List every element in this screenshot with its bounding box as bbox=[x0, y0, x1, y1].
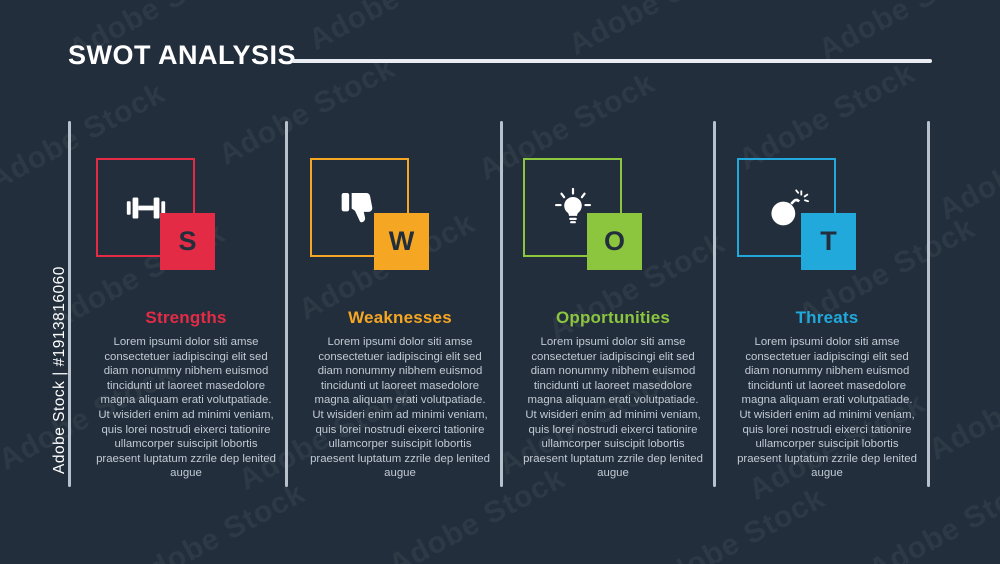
watermark-text: Adobe Stock bbox=[643, 481, 831, 564]
swot-column-strengths: S Strengths Lorem ipsumi dolor siti amse… bbox=[96, 121, 296, 281]
heading-threats: Threats bbox=[737, 308, 917, 328]
badge-strengths: S bbox=[96, 121, 296, 281]
watermark-text: Adobe Stock bbox=[923, 346, 1000, 467]
watermark-text: Adobe Stock bbox=[863, 466, 1000, 564]
swot-column-weaknesses: W Weaknesses Lorem ipsumi dolor siti ams… bbox=[310, 121, 510, 281]
letter-square-opportunities: O bbox=[587, 213, 642, 270]
infographic-canvas: Adobe StockAdobe StockAdobe StockAdobe S… bbox=[0, 0, 1000, 564]
letter-strengths: S bbox=[178, 228, 196, 255]
watermark-text: Adobe Stock bbox=[303, 0, 491, 58]
title-rule bbox=[292, 59, 932, 63]
body-opportunities: Lorem ipsumi dolor siti amse consectetue… bbox=[523, 335, 703, 481]
letter-square-weaknesses: W bbox=[374, 213, 429, 270]
stock-credit-text: Adobe Stock | #1913816060 bbox=[51, 54, 69, 474]
heading-opportunities: Opportunities bbox=[523, 308, 703, 328]
watermark-text: Adobe Stock bbox=[813, 0, 1000, 68]
body-strengths: Lorem ipsumi dolor siti amse consectetue… bbox=[96, 335, 276, 481]
stock-credit-rail: Adobe Stock | #1913816060 bbox=[0, 0, 42, 564]
letter-square-threats: T bbox=[801, 213, 856, 270]
watermark-text: Adobe Stock bbox=[933, 106, 1000, 227]
letter-opportunities: O bbox=[604, 228, 625, 255]
body-threats: Lorem ipsumi dolor siti amse consectetue… bbox=[737, 335, 917, 481]
body-weaknesses: Lorem ipsumi dolor siti amse consectetue… bbox=[310, 335, 490, 481]
badge-weaknesses: W bbox=[310, 121, 510, 281]
swot-column-opportunities: O Opportunities Lorem ipsumi dolor siti … bbox=[523, 121, 723, 281]
heading-weaknesses: Weaknesses bbox=[310, 308, 490, 328]
watermark-text: Adobe Stock bbox=[123, 476, 311, 564]
badge-opportunities: O bbox=[523, 121, 723, 281]
letter-weaknesses: W bbox=[389, 228, 414, 255]
letter-threats: T bbox=[820, 228, 837, 255]
page-title: SWOT ANALYSIS bbox=[68, 40, 296, 71]
heading-strengths: Strengths bbox=[96, 308, 276, 328]
badge-threats: T bbox=[737, 121, 937, 281]
letter-square-strengths: S bbox=[160, 213, 215, 270]
swot-column-threats: T Threats Lorem ipsumi dolor siti amse c… bbox=[737, 121, 937, 281]
watermark-text: Adobe Stock bbox=[563, 0, 751, 63]
divider-line-0 bbox=[68, 121, 71, 487]
